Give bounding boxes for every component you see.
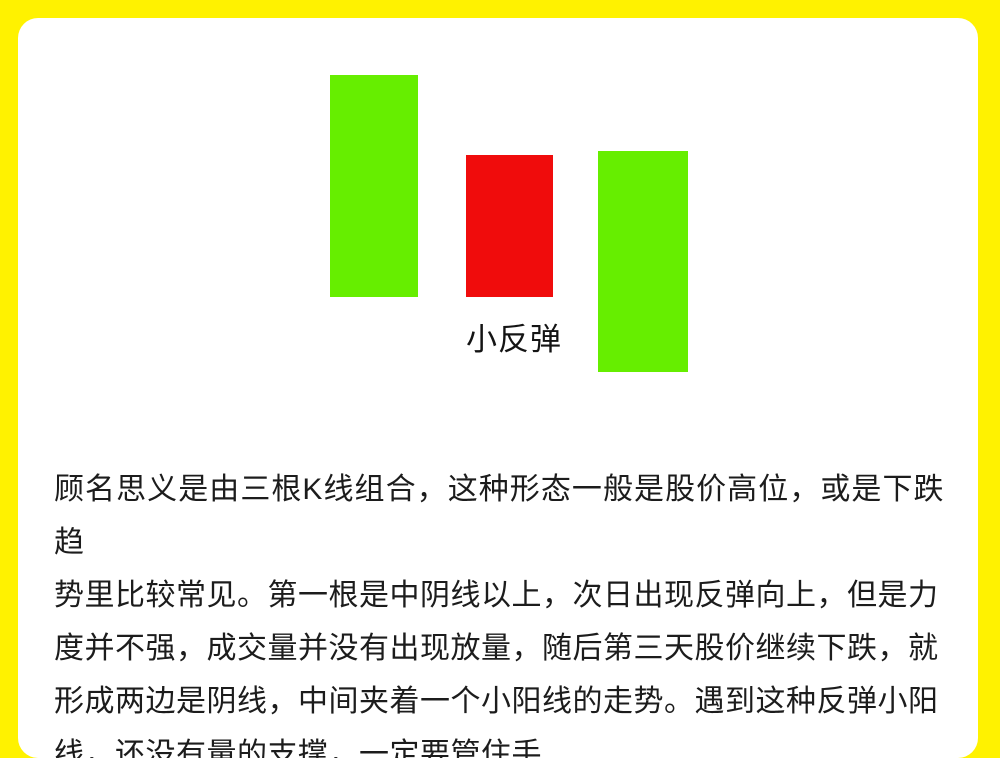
article-paragraph: 顾名思义是由三根K线组合，这种形态一般是股价高位，或是下跌趋 势里比较常见。第一… [54,463,944,758]
watermark: 头条 @股市证券 [764,722,962,752]
article-line: 度并不强，成交量并没有出现放量，随后第三天股价继续下跌，就 [54,622,944,675]
candle-bar-3 [598,151,688,372]
candlestick-chart: 小反弹 [18,18,978,418]
candle-bar-1 [330,75,418,297]
article-line: 顾名思义是由三根K线组合，这种形态一般是股价高位，或是下跌趋 [54,463,944,569]
page-root: 小反弹 顾名思义是由三根K线组合，这种形态一般是股价高位，或是下跌趋 势里比较常… [0,0,1000,750]
candle-bar-2 [466,155,553,297]
content-card: 小反弹 顾名思义是由三根K线组合，这种形态一般是股价高位，或是下跌趋 势里比较常… [18,18,978,758]
article-line: 势里比较常见。第一根是中阴线以上，次日出现反弹向上，但是力 [54,569,944,622]
article-line: 形成两边是阴线，中间夹着一个小阳线的走势。遇到这种反弹小阳 [54,675,944,728]
rebound-annotation-label: 小反弹 [466,323,553,357]
